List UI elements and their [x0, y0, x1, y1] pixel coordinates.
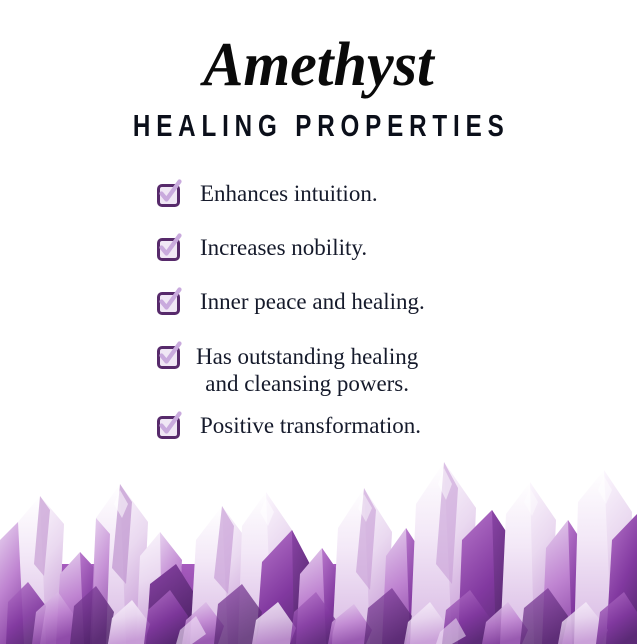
- list-item: Increases nobility.: [0, 235, 637, 261]
- list-item: Enhances intuition.: [0, 181, 637, 207]
- checkbox-checked-icon: [157, 346, 180, 369]
- checkbox-checked-icon: [157, 238, 180, 261]
- list-item-label: Has outstanding healing and cleansing po…: [196, 343, 418, 397]
- page-subtitle: HEALING PROPERTIES: [70, 110, 567, 141]
- poster-header: Amethyst HEALING PROPERTIES: [0, 0, 637, 141]
- list-item: Has outstanding healing and cleansing po…: [0, 343, 637, 397]
- checkbox-checked-icon: [157, 184, 180, 207]
- list-item: Inner peace and healing.: [0, 289, 637, 315]
- amethyst-crystal-cluster-image: [0, 444, 637, 644]
- list-item-label: Enhances intuition.: [200, 181, 378, 206]
- list-item: Positive transformation.: [0, 413, 637, 439]
- checkbox-checked-icon: [157, 416, 180, 439]
- checkbox-checked-icon: [157, 292, 180, 315]
- list-item-label: Increases nobility.: [200, 235, 367, 260]
- list-item-label: Positive transformation.: [200, 413, 421, 438]
- page-title: Amethyst: [10, 34, 628, 96]
- amethyst-healing-properties-poster: Amethyst HEALING PROPERTIES Enhances int…: [0, 0, 637, 644]
- healing-properties-list: Enhances intuition. Increases nobility.: [0, 181, 637, 439]
- list-item-label: Inner peace and healing.: [200, 289, 425, 314]
